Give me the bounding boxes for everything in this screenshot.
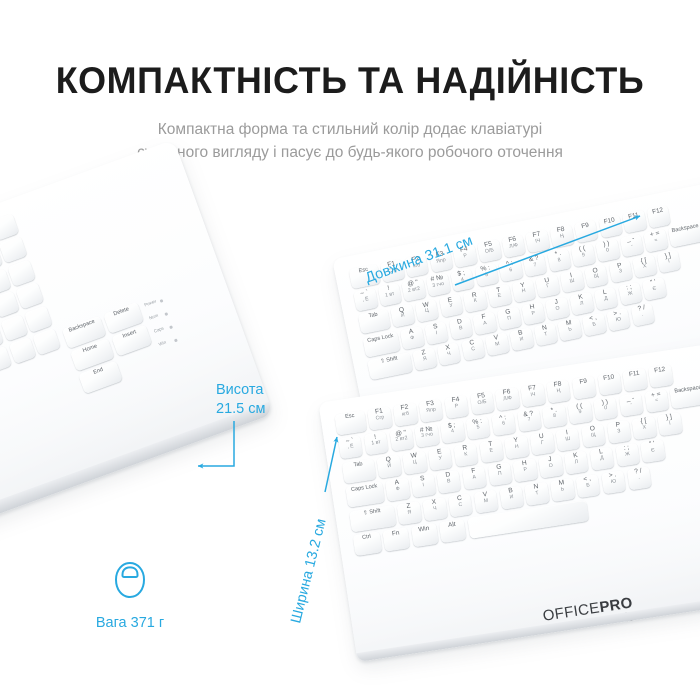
key-l28[interactable]	[7, 259, 35, 286]
key-Y[interactable]: YН	[504, 435, 529, 459]
key-F7[interactable]: F7ІЧ	[520, 383, 545, 407]
key-<,[interactable]: < ,Б	[582, 312, 607, 336]
key-F11[interactable]: F11	[622, 210, 647, 234]
key-F9[interactable]: F9	[572, 376, 597, 400]
key-F1[interactable]: F1Сгр	[367, 406, 392, 430]
key-primary-label	[8, 261, 29, 269]
key-K[interactable]: KЛ	[569, 291, 594, 315]
key-P[interactable]: PЗ	[606, 420, 631, 444]
key-$;[interactable]: $ ;4	[450, 268, 475, 292]
key-#№[interactable]: # №3 гчо	[415, 424, 440, 448]
key-O[interactable]: OЩ	[581, 424, 606, 448]
key-G[interactable]: GП	[487, 462, 512, 486]
key-R[interactable]: RК	[453, 443, 478, 467]
key-:;[interactable]: : ;Ж	[615, 443, 640, 467]
key-A[interactable]: AФ	[400, 326, 425, 350]
key-primary-label	[1, 316, 22, 324]
key-F4[interactable]: F4Р	[444, 395, 469, 419]
key->.[interactable]: > .Ю	[606, 308, 631, 332]
key-(([interactable]: ( (9	[568, 401, 593, 425]
key-Esc[interactable]: Esc	[334, 410, 367, 435]
keyboard-left-view: BackspaceHomeEndDeleteInsertPowerNumCaps…	[0, 140, 276, 566]
key-O[interactable]: OЩ	[584, 265, 609, 289]
page-title: КОМПАКТНІСТЬ ТА НАДІЙНІСТЬ	[11, 62, 690, 99]
key-W[interactable]: WЦ	[402, 451, 427, 475]
key-U[interactable]: UГ	[530, 431, 555, 455]
key-H[interactable]: HР	[521, 301, 546, 325]
key-⇧Shift[interactable]: ⇧ Shift	[349, 505, 397, 532]
key-D[interactable]: DВ	[436, 470, 461, 494]
key-*.[interactable]: * .8	[542, 405, 567, 429]
key-primary-label: ⇧ Shift	[367, 354, 410, 368]
key-$;[interactable]: $ ;4	[440, 420, 465, 444]
key-primary-label: F12	[648, 366, 671, 376]
key-F7[interactable]: F7ІЧ	[525, 229, 550, 253]
key-D[interactable]: DВ	[448, 316, 473, 340]
key-V[interactable]: VМ	[473, 489, 498, 513]
subtitle-line-1: Компактна форма та стильний колір додає …	[85, 118, 615, 141]
key-K[interactable]: KЛ	[564, 451, 589, 475]
key-primary-label	[9, 339, 30, 347]
product-banner: КОМПАКТНІСТЬ ТА НАДІЙНІСТЬ Компактна фор…	[0, 0, 700, 700]
key-l18[interactable]	[0, 236, 27, 263]
key-V[interactable]: VМ	[485, 332, 510, 356]
key-F12[interactable]: F12	[646, 205, 671, 229]
key-primary-label	[0, 348, 6, 356]
key-Tab[interactable]: Tab	[358, 309, 391, 335]
key-~`[interactable]: ~ `, Ё	[353, 288, 378, 312]
key-^:[interactable]: ^ :6	[498, 258, 523, 282]
key-primary-label	[17, 284, 38, 292]
key-J[interactable]: JО	[545, 296, 570, 320]
key-:;[interactable]: : ;Ж	[618, 282, 643, 306]
key-@"[interactable]: @ "2 вт2	[389, 428, 414, 452]
key-primary-label	[0, 216, 13, 224]
key-E[interactable]: EУ	[428, 447, 453, 471]
key-L[interactable]: LД	[593, 286, 618, 310]
led-indicator-num	[164, 312, 167, 315]
key-Backspace[interactable]: Backspace	[668, 221, 700, 247]
key-))[interactable]: ) )0	[593, 397, 618, 421]
key-primary-label: Win	[411, 525, 437, 535]
key-F9[interactable]: F9	[574, 219, 599, 243]
led-indicator-power	[160, 299, 163, 302]
key-primary-label: Esc	[335, 412, 366, 422]
key-F[interactable]: FА	[462, 466, 487, 490]
key-Backspace[interactable]: Backspace	[670, 383, 700, 409]
key-X[interactable]: XЧ	[422, 497, 447, 521]
key-Tab[interactable]: Tab	[342, 458, 377, 484]
key-P[interactable]: PЗ	[608, 260, 633, 284]
key-primary-label: Fn	[383, 529, 409, 539]
key-%:[interactable]: % :5	[466, 416, 491, 440]
key-@"[interactable]: @ "2 вт2	[402, 278, 427, 302]
key-F8[interactable]: F8Ӊ	[546, 379, 571, 403]
key-F10[interactable]: F10	[598, 215, 623, 239]
key-F11[interactable]: F11	[623, 368, 648, 392]
key-primary-label	[0, 270, 5, 278]
key-M[interactable]: MЬ	[557, 317, 582, 341]
key-F6[interactable]: F6Л/Ф	[501, 234, 526, 258]
key-F10[interactable]: F10	[597, 372, 622, 396]
key-U[interactable]: UГ	[536, 275, 561, 299]
key-primary-label: Backspace	[668, 224, 700, 236]
key-N[interactable]: NТ	[524, 481, 549, 505]
key-+=[interactable]: + ==	[644, 229, 669, 253]
key-secondary-label: 2 вт2	[403, 286, 425, 295]
key-?/[interactable]: ? /.	[626, 466, 651, 490]
key-"'[interactable]: " 'Є	[640, 439, 665, 463]
key-M[interactable]: MЬ	[550, 478, 575, 502]
key-primary-label	[0, 293, 13, 301]
key-R[interactable]: RК	[463, 289, 488, 313]
key-N[interactable]: NТ	[533, 322, 558, 346]
key-?/[interactable]: ? /.	[630, 303, 655, 327]
width-annotation-text: Ширина 13.2 см	[288, 517, 329, 625]
key-{[[interactable]: { [Х	[632, 255, 657, 279]
key-#№[interactable]: # №3 гчо	[426, 273, 451, 297]
key-J[interactable]: JО	[538, 455, 563, 479]
key-primary-label	[25, 307, 46, 315]
key-primary-label: Ctrl	[353, 533, 381, 543]
key-_-[interactable]: _ --	[619, 234, 644, 258]
key-C[interactable]: CС	[448, 493, 473, 517]
key-CapsLock[interactable]: Caps Lock	[345, 482, 385, 508]
led-label-power: Power	[144, 298, 157, 307]
key-primary-label	[33, 330, 54, 338]
key-primary-label: Tab	[342, 460, 374, 470]
key-primary-label: Caps Lock	[363, 333, 398, 346]
key-B[interactable]: BИ	[509, 327, 534, 351]
key->.[interactable]: > .Ю	[601, 470, 626, 494]
key-T[interactable]: TЕ	[487, 284, 512, 308]
key-~`[interactable]: ~ `, Ё	[338, 436, 363, 460]
key-F3[interactable]: F3Ялр	[418, 399, 443, 423]
key-F2[interactable]: F2кгб	[393, 403, 418, 427]
key-B[interactable]: BИ	[499, 485, 524, 509]
led-label-caps: Caps	[153, 325, 164, 333]
key-primary-label: F10	[597, 374, 620, 384]
weight-kettlebell-icon	[110, 556, 150, 613]
key-primary-label	[0, 239, 21, 247]
key-+=[interactable]: + ==	[644, 389, 669, 413]
key-&?[interactable]: & ?7	[517, 409, 542, 433]
key-%:[interactable]: % :5	[474, 263, 499, 287]
height-annotation: Висота 21.5 см	[216, 381, 265, 419]
key-F5[interactable]: F5О/Б	[477, 239, 502, 263]
key-primary-label: F10	[598, 217, 620, 228]
key-Z[interactable]: ZЯ	[397, 501, 422, 525]
key-"'[interactable]: " 'Є	[642, 277, 667, 301]
width-annotation: Ширина 13.2 см	[287, 517, 330, 625]
key-_-[interactable]: _ --	[619, 393, 644, 417]
key-Q[interactable]: QЙ	[377, 454, 402, 478]
key-F6[interactable]: F6Л/Ф	[495, 387, 520, 411]
key-F12[interactable]: F12	[648, 364, 673, 388]
key-l47[interactable]	[0, 314, 28, 341]
key-primary-label: Caps Lock	[346, 484, 383, 495]
key-X[interactable]: XЧ	[436, 342, 461, 366]
key-primary-label: ⇧ Shift	[349, 507, 394, 519]
key-primary-label: F11	[623, 212, 645, 223]
key-primary-label: F9	[574, 222, 596, 233]
key-l57[interactable]	[8, 337, 36, 364]
key-W[interactable]: WЦ	[414, 299, 439, 323]
weight-annotation-text: Вага 371 г	[72, 615, 188, 631]
key-l38[interactable]	[16, 282, 44, 309]
key-CapsLock[interactable]: Caps Lock	[362, 331, 400, 358]
key-ctrl[interactable]: Ctrl	[353, 531, 383, 556]
key-(([interactable]: ( (9	[571, 244, 596, 268]
key-primary-label: F11	[623, 370, 646, 380]
key-l48[interactable]	[24, 305, 52, 332]
led-indicator-win	[174, 339, 177, 342]
key-S[interactable]: SІ	[424, 321, 449, 345]
key-T[interactable]: TЕ	[479, 439, 504, 463]
key-![interactable]: !1 вт	[364, 432, 389, 456]
key-L[interactable]: LД	[589, 447, 614, 471]
key-<,[interactable]: < ,Б	[575, 474, 600, 498]
key-F5[interactable]: F5О/Б	[469, 391, 494, 415]
key-primary-label: Backspace	[62, 318, 102, 337]
led-label-win: Win	[158, 340, 167, 347]
key-l58[interactable]	[33, 328, 61, 355]
key-alt[interactable]: Alt	[439, 519, 467, 544]
key-fn[interactable]: Fn	[383, 527, 411, 552]
key-I[interactable]: IШ	[555, 427, 580, 451]
key-primary-label: Backspace	[670, 385, 700, 396]
key-{[[interactable]: { [Х	[632, 416, 657, 440]
key-win[interactable]: Win	[411, 523, 439, 548]
key-primary-label: F12	[647, 207, 669, 218]
key-}][interactable]: } ]Ї	[657, 250, 682, 274]
key-}][interactable]: } ]Ї	[657, 412, 682, 436]
key-Z[interactable]: ZЯ	[412, 347, 437, 371]
height-annotation-value: 21.5 см	[216, 400, 265, 419]
key-⇧Shift[interactable]: ⇧ Shift	[367, 352, 413, 380]
height-annotation-label: Висота	[216, 381, 265, 400]
key-C[interactable]: CС	[461, 337, 486, 361]
key-*.[interactable]: * .8	[547, 249, 572, 273]
led-label-num: Num	[148, 313, 158, 321]
key-G[interactable]: GП	[497, 306, 522, 330]
key-H[interactable]: HР	[513, 458, 538, 482]
key-S[interactable]: SІ	[411, 474, 436, 498]
key-Y[interactable]: YН	[511, 279, 536, 303]
key-primary-label: F9	[572, 378, 595, 388]
key-primary-label: Alt	[439, 521, 465, 531]
key-))[interactable]: ) )0	[595, 239, 620, 263]
key-![interactable]: !1 вт	[377, 283, 402, 307]
key-^:[interactable]: ^ :6	[491, 412, 516, 436]
key-F8[interactable]: F8Ӊ	[549, 224, 574, 248]
key-I[interactable]: IШ	[560, 270, 585, 294]
led-indicator-caps	[169, 325, 172, 328]
key-primary-label: Tab	[358, 311, 389, 323]
key-&?[interactable]: & ?7	[523, 253, 548, 277]
weight-annotation: Вага 371 г	[72, 556, 188, 631]
key-Q[interactable]: QЙ	[390, 304, 415, 328]
key-F[interactable]: FА	[472, 311, 497, 335]
key-primary-label: Delete	[104, 304, 140, 322]
key-A[interactable]: AФ	[385, 478, 410, 502]
key-E[interactable]: EУ	[439, 294, 464, 318]
